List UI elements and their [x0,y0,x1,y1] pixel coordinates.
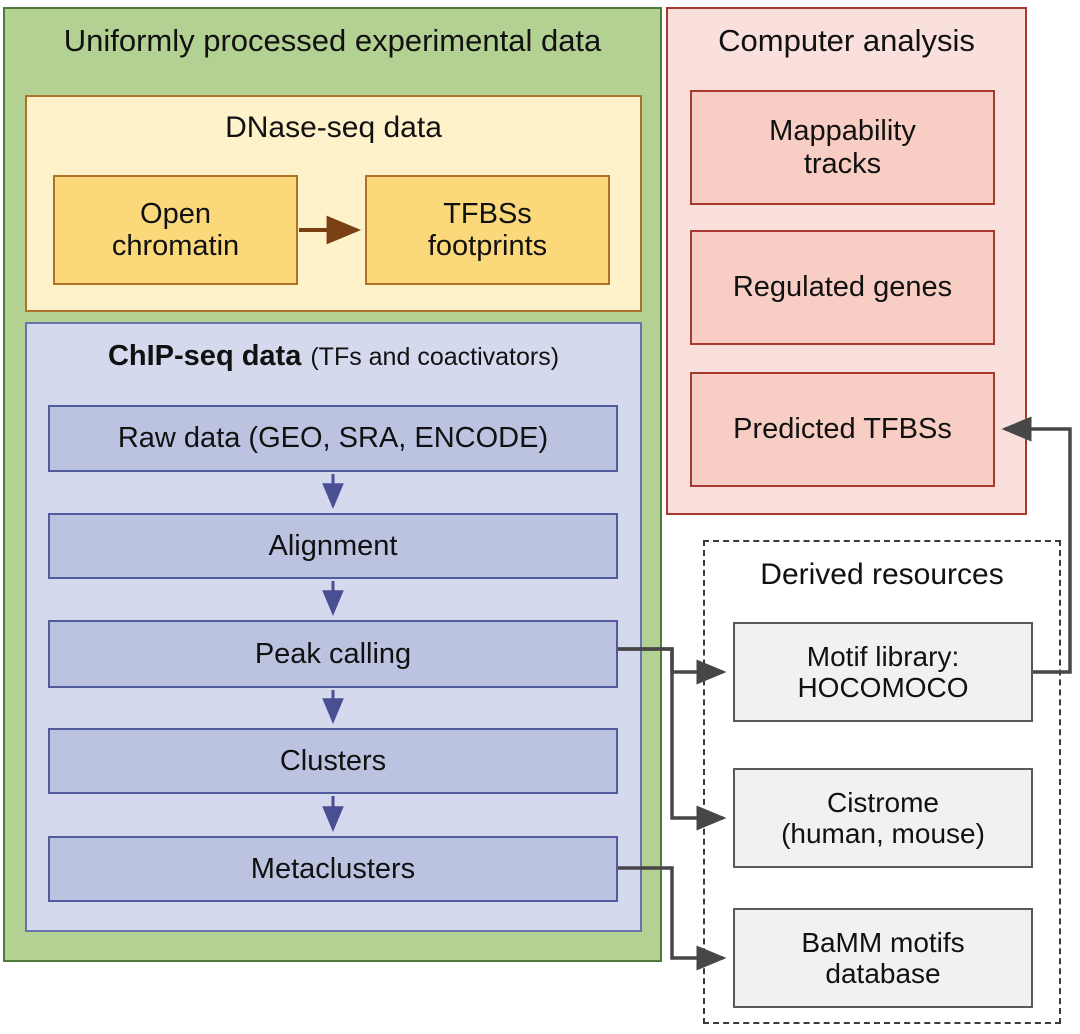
node-mappability-tracks-line2: tracks [804,148,881,180]
node-tfbs-footprints-line2: footprints [428,230,547,262]
node-regulated-genes-label: Regulated genes [692,232,993,343]
node-bamm-motifs-database-label: BaMM motifs database [735,910,1031,1006]
panel-chip-seq-title: ChIP-seq data (TFs and coactivators) [25,330,642,382]
panel-experimental-data-title: Uniformly processed experimental data [3,16,662,66]
node-motif-library-hocomoco-label: Motif library: HOCOMOCO [735,624,1031,720]
node-open-chromatin-label: Open chromatin [55,177,296,283]
node-open-chromatin[interactable]: Open chromatin [53,175,298,285]
node-motif-library-line2: HOCOMOCO [797,672,968,703]
panel-chip-seq-title-main: ChIP-seq data [108,340,301,372]
node-tfbs-footprints[interactable]: TFBSs footprints [365,175,610,285]
node-alignment[interactable]: Alignment [48,513,618,579]
panel-computer-analysis-title: Computer analysis [666,18,1027,64]
node-mappability-tracks-line1: Mappability [769,115,916,147]
node-cistrome-line1: Cistrome [827,787,939,818]
node-open-chromatin-line2: chromatin [112,230,239,262]
panel-derived-resources-title: Derived resources [703,552,1061,598]
node-motif-library-hocomoco[interactable]: Motif library: HOCOMOCO [733,622,1033,722]
node-mappability-tracks[interactable]: Mappability tracks [690,90,995,205]
node-bamm-line1: BaMM motifs [801,927,964,958]
node-cistrome-label: Cistrome (human, mouse) [735,770,1031,866]
panel-dnase-seq-title: DNase-seq data [25,104,642,152]
node-raw-data[interactable]: Raw data (GEO, SRA, ENCODE) [48,405,618,472]
node-predicted-tfbs[interactable]: Predicted TFBSs [690,372,995,487]
node-tfbs-footprints-label: TFBSs footprints [367,177,608,283]
node-peak-calling[interactable]: Peak calling [48,620,618,688]
node-mappability-tracks-label: Mappability tracks [692,92,993,203]
node-cistrome[interactable]: Cistrome (human, mouse) [733,768,1033,868]
node-tfbs-footprints-line1: TFBSs [443,198,532,230]
node-bamm-motifs-database[interactable]: BaMM motifs database [733,908,1033,1008]
diagram-canvas: Uniformly processed experimental data DN… [0,0,1080,1034]
node-metaclusters[interactable]: Metaclusters [48,836,618,902]
node-cistrome-line2: (human, mouse) [781,818,985,849]
node-predicted-tfbs-label: Predicted TFBSs [692,374,993,485]
node-clusters-label: Clusters [50,730,616,792]
node-bamm-line2: database [825,958,940,989]
node-open-chromatin-line1: Open [140,198,211,230]
node-raw-data-label: Raw data (GEO, SRA, ENCODE) [50,407,616,470]
node-regulated-genes[interactable]: Regulated genes [690,230,995,345]
node-motif-library-line1: Motif library: [807,641,959,672]
node-clusters[interactable]: Clusters [48,728,618,794]
node-peak-calling-label: Peak calling [50,622,616,686]
node-alignment-label: Alignment [50,515,616,577]
panel-chip-seq-title-sub: (TFs and coactivators) [310,343,559,371]
node-metaclusters-label: Metaclusters [50,838,616,900]
